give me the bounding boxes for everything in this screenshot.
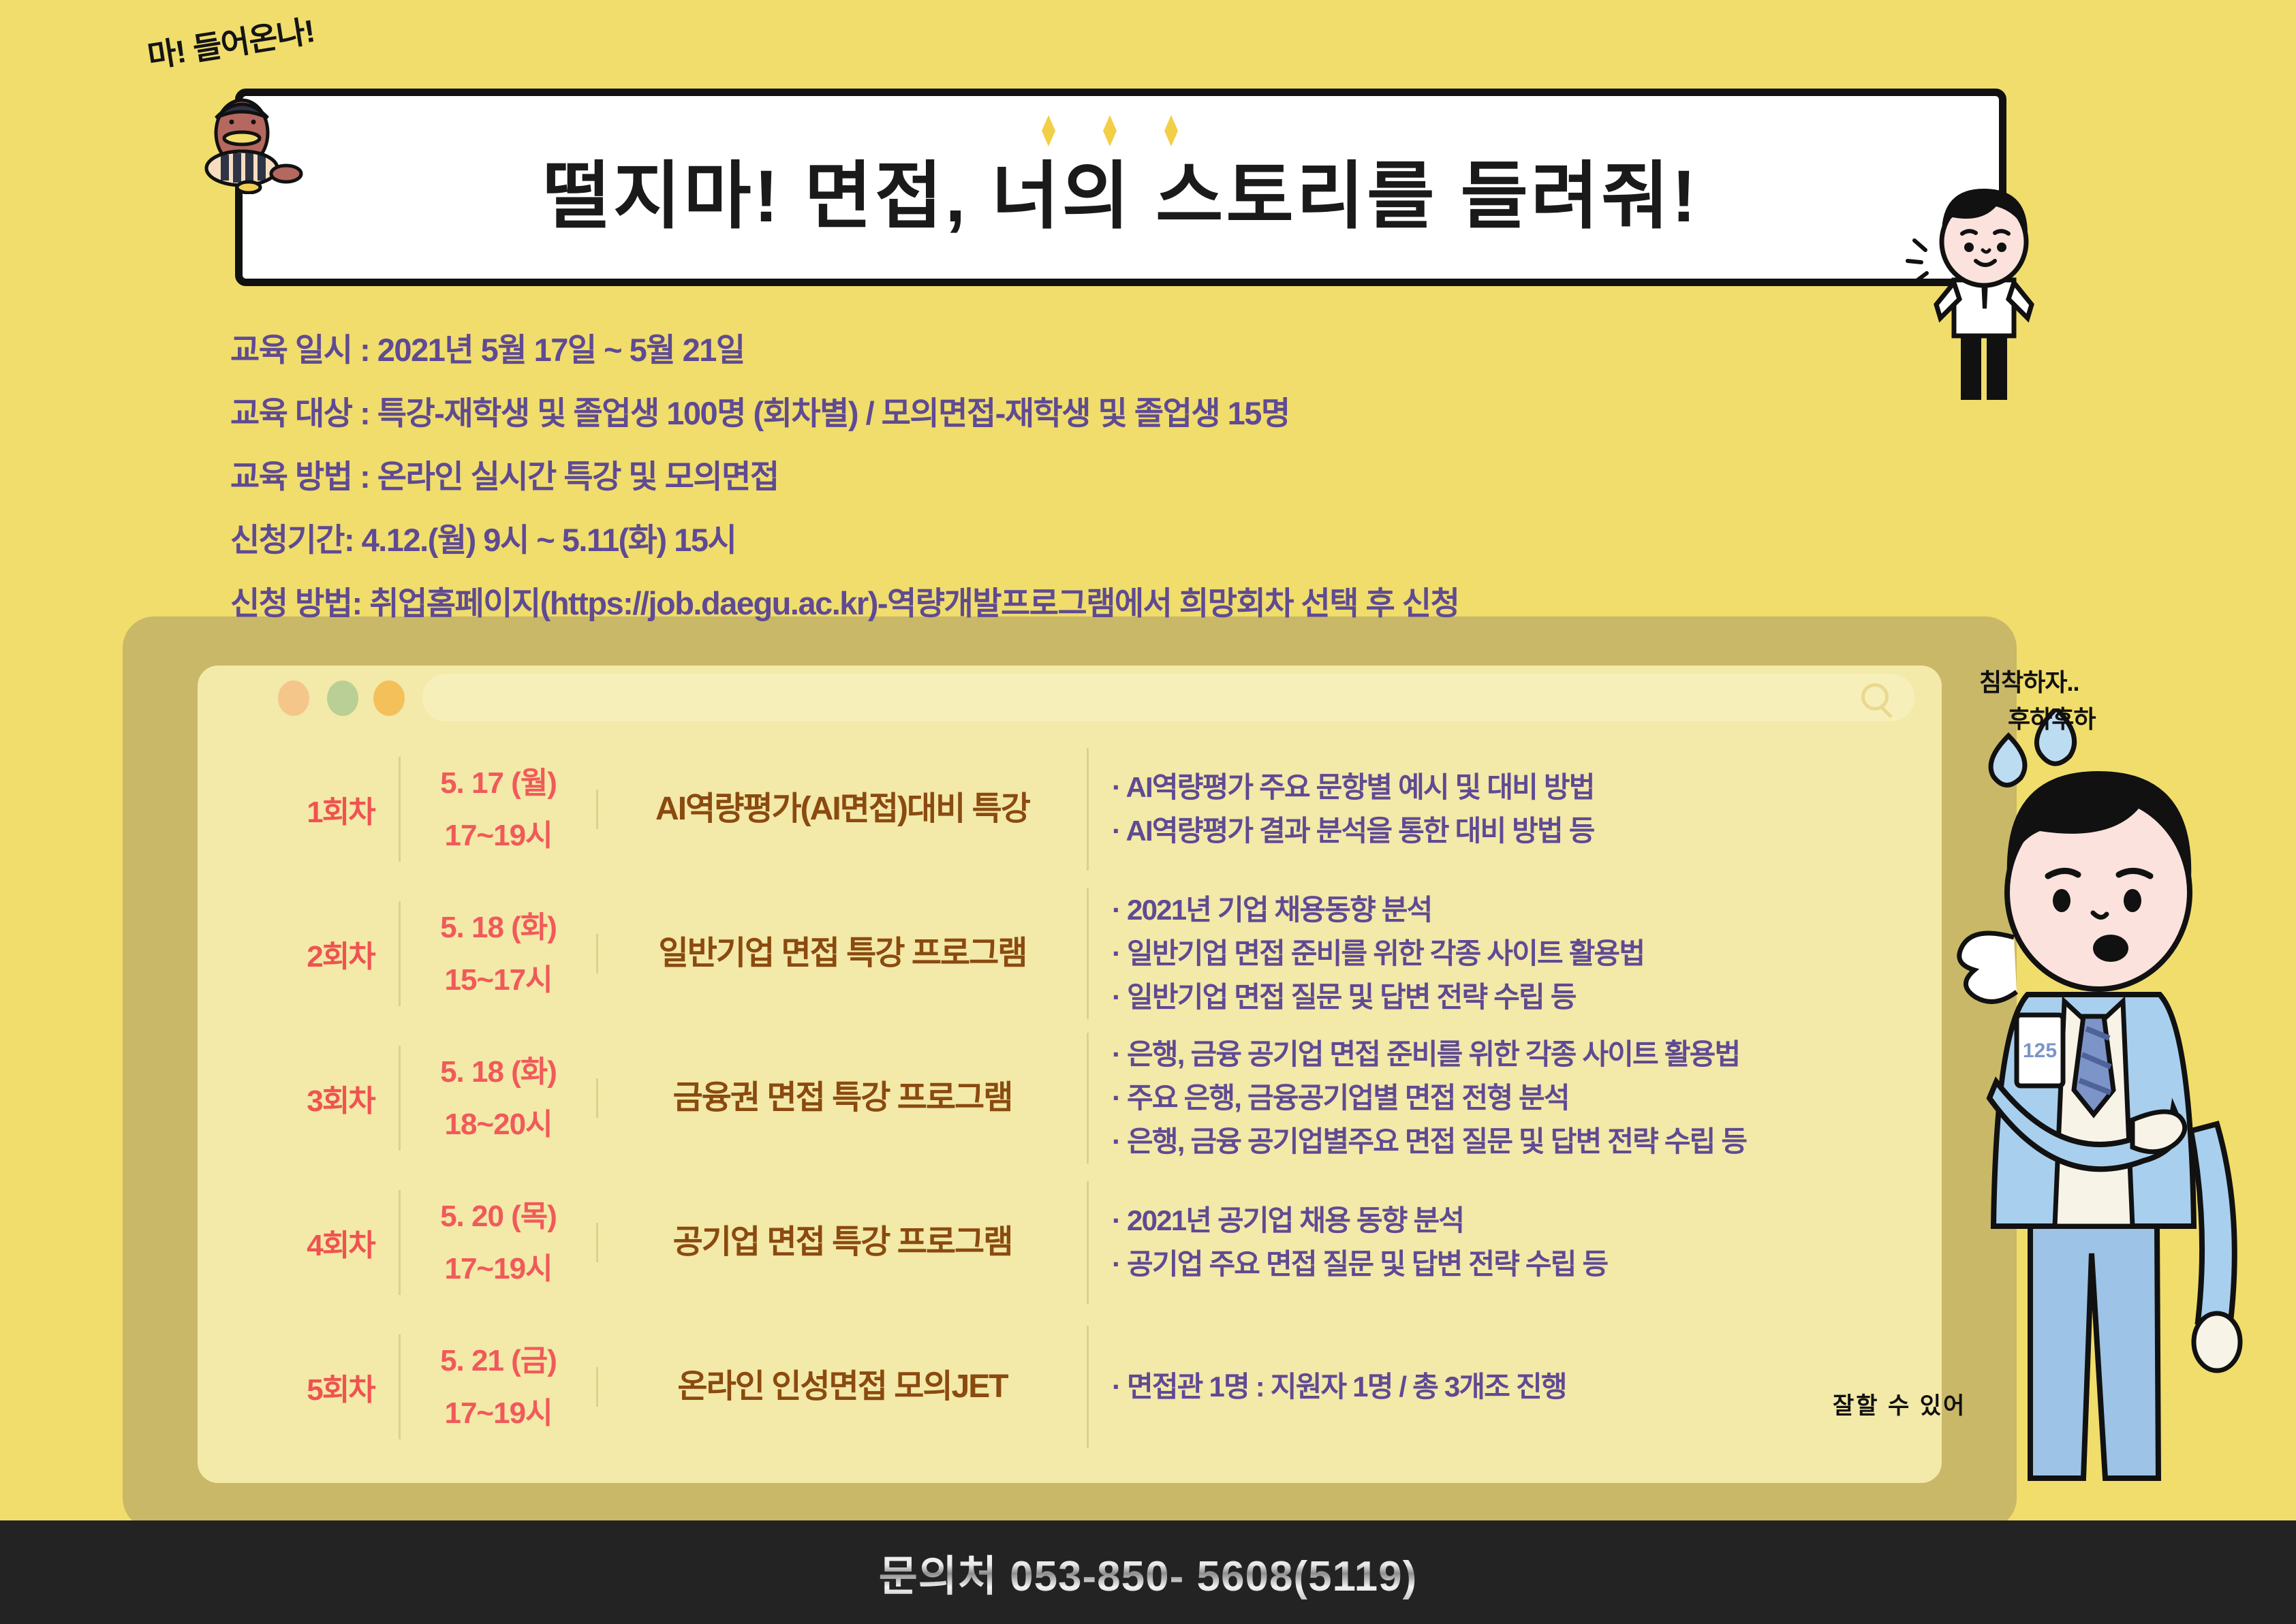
info-line-date: 교육 일시 : 2021년 5월 17일 ~ 5월 21일 — [230, 334, 1459, 366]
browser-window-frame: 1회차 5. 17 (월) 17~19시 AI역량평가(AI면접)대비 특강 ·… — [123, 616, 2017, 1529]
detail-line: · 은행, 금융 공기업별주요 면접 질문 및 답변 전략 수립 등 — [1112, 1120, 1918, 1164]
top-callout-text: 마! 들어온나! — [144, 6, 317, 77]
footer-bar: 문의처 053-850- 5608(5119) — [0, 1520, 2296, 1624]
table-row: 1회차 5. 17 (월) 17~19시 AI역량평가(AI면접)대비 특강 ·… — [283, 737, 1918, 881]
row-title: 일반기업 면접 특강 프로그램 — [596, 934, 1087, 973]
row-details: · 은행, 금융 공기업 면접 준비를 위한 각종 사이트 활용법 · 주요 은… — [1087, 1033, 1918, 1163]
calm-line-2: 후하후하 — [1979, 701, 2095, 738]
schedule-table: 1회차 5. 17 (월) 17~19시 AI역량평가(AI면접)대비 특강 ·… — [283, 737, 1918, 1459]
row-date: 5. 18 (화) — [401, 1046, 596, 1098]
row-title: 온라인 인성면접 모의JET — [596, 1367, 1087, 1407]
title-banner: 떨지마! 면접, 너의 스토리를 들려줘! — [235, 89, 2006, 286]
poster-title: 떨지마! 면접, 너의 스토리를 들려줘! — [243, 137, 1999, 243]
calm-line-1: 침착하자.. — [1979, 668, 2079, 696]
browser-window-content: 1회차 5. 17 (월) 17~19시 AI역량평가(AI면접)대비 특강 ·… — [198, 666, 1942, 1483]
student-character-top — [1901, 146, 2064, 405]
row-title: 금융권 면접 특강 프로그램 — [596, 1078, 1087, 1118]
info-line-apply-method: 신청 방법: 취업홈페이지(https://job.daegu.ac.kr)-역… — [230, 587, 1459, 619]
table-row: 5회차 5. 21 (금) 17~19시 온라인 인성면접 모의JET · 면접… — [283, 1315, 1918, 1459]
detail-line: · 은행, 금융 공기업 면접 준비를 위한 각종 사이트 활용법 — [1112, 1033, 1918, 1076]
detail-line: · 2021년 기업 채용동향 분석 — [1112, 888, 1918, 932]
detail-line: · 2021년 공기업 채용 동향 분석 — [1112, 1199, 1918, 1243]
row-details: · AI역량평가 주요 문항별 예시 및 대비 방법 · AI역량평가 결과 분… — [1087, 748, 1918, 871]
row-datetime: 5. 18 (화) 18~20시 — [399, 1046, 596, 1151]
row-title: 공기업 면접 특강 프로그램 — [596, 1223, 1087, 1262]
row-datetime: 5. 20 (목) 17~19시 — [399, 1190, 596, 1295]
row-details: · 2021년 기업 채용동향 분석 · 일반기업 면접 준비를 위한 각종 사… — [1087, 888, 1918, 1018]
info-block: 교육 일시 : 2021년 5월 17일 ~ 5월 21일 교육 대상 : 특강… — [230, 334, 1459, 651]
detail-line: · 일반기업 면접 준비를 위한 각종 사이트 활용법 — [1112, 932, 1918, 975]
calm-annotation: 침착하자.. 후하후하 — [1979, 664, 2095, 738]
row-time: 17~19시 — [401, 809, 596, 862]
row-title: AI역량평가(AI면접)대비 특강 — [596, 790, 1087, 829]
row-round: 2회차 — [283, 932, 399, 975]
detail-line: · 일반기업 면접 질문 및 답변 전략 수립 등 — [1112, 975, 1918, 1019]
row-date: 5. 18 (화) — [401, 901, 596, 954]
row-time: 18~20시 — [401, 1098, 596, 1151]
row-round: 3회차 — [283, 1076, 399, 1120]
badge-number: 125 — [2023, 1040, 2057, 1062]
contact-info: 문의처 053-850- 5608(5119) — [879, 1542, 1417, 1603]
row-round: 1회차 — [283, 787, 399, 831]
row-date: 5. 17 (월) — [401, 757, 596, 809]
detail-line: · 공기업 주요 면접 질문 및 답변 전략 수립 등 — [1112, 1243, 1918, 1286]
detail-line: · AI역량평가 결과 분석을 통한 대비 방법 등 — [1112, 809, 1918, 853]
row-round: 4회차 — [283, 1221, 399, 1264]
bird-mascot-icon — [191, 92, 327, 194]
window-minimize-dot-icon[interactable] — [327, 681, 358, 716]
window-maximize-dot-icon[interactable] — [373, 681, 405, 716]
row-details: · 면접관 1명 : 지원자 1명 / 총 3개조 진행 — [1087, 1326, 1918, 1448]
table-row: 2회차 5. 18 (화) 15~17시 일반기업 면접 특강 프로그램 · 2… — [283, 881, 1918, 1026]
sparkle-icon — [1164, 115, 1178, 146]
row-datetime: 5. 21 (금) 17~19시 — [399, 1334, 596, 1439]
row-datetime: 5. 18 (화) 15~17시 — [399, 901, 596, 1006]
table-row: 3회차 5. 18 (화) 18~20시 금융권 면접 특강 프로그램 · 은행… — [283, 1026, 1918, 1170]
info-line-audience: 교육 대상 : 특강-재학생 및 졸업생 100명 (회차별) / 모의면접-재… — [230, 397, 1459, 429]
detail-line: · 면접관 1명 : 지원자 1명 / 총 3개조 진행 — [1112, 1365, 1918, 1409]
row-date: 5. 21 (금) — [401, 1334, 596, 1387]
encourage-annotation: 잘할 수 있어 — [1833, 1387, 1966, 1420]
detail-line: · 주요 은행, 금융공기업별 면접 전형 분석 — [1112, 1076, 1918, 1120]
address-bar[interactable] — [422, 674, 1914, 721]
info-line-apply-period: 신청기간: 4.12.(월) 9시 ~ 5.11(화) 15시 — [230, 524, 1459, 556]
row-round: 5회차 — [283, 1365, 399, 1409]
row-datetime: 5. 17 (월) 17~19시 — [399, 757, 596, 862]
row-time: 17~19시 — [401, 1243, 596, 1295]
row-date: 5. 20 (목) — [401, 1190, 596, 1243]
nervous-student-character: 125 — [1928, 708, 2269, 1512]
row-details: · 2021년 공기업 채용 동향 분석 · 공기업 주요 면접 질문 및 답변… — [1087, 1181, 1918, 1304]
sparkle-group-icon — [1042, 115, 1178, 146]
row-time: 15~17시 — [401, 954, 596, 1006]
sparkle-icon — [1042, 115, 1055, 146]
sparkle-icon — [1103, 115, 1117, 146]
table-row: 4회차 5. 20 (목) 17~19시 공기업 면접 특강 프로그램 · 20… — [283, 1170, 1918, 1315]
window-close-dot-icon[interactable] — [278, 681, 309, 716]
row-time: 17~19시 — [401, 1387, 596, 1439]
browser-chrome — [198, 666, 1942, 728]
detail-line: · AI역량평가 주요 문항별 예시 및 대비 방법 — [1112, 766, 1918, 809]
info-line-method: 교육 방법 : 온라인 실시간 특강 및 모의면접 — [230, 460, 1459, 493]
search-icon — [1861, 683, 1889, 710]
